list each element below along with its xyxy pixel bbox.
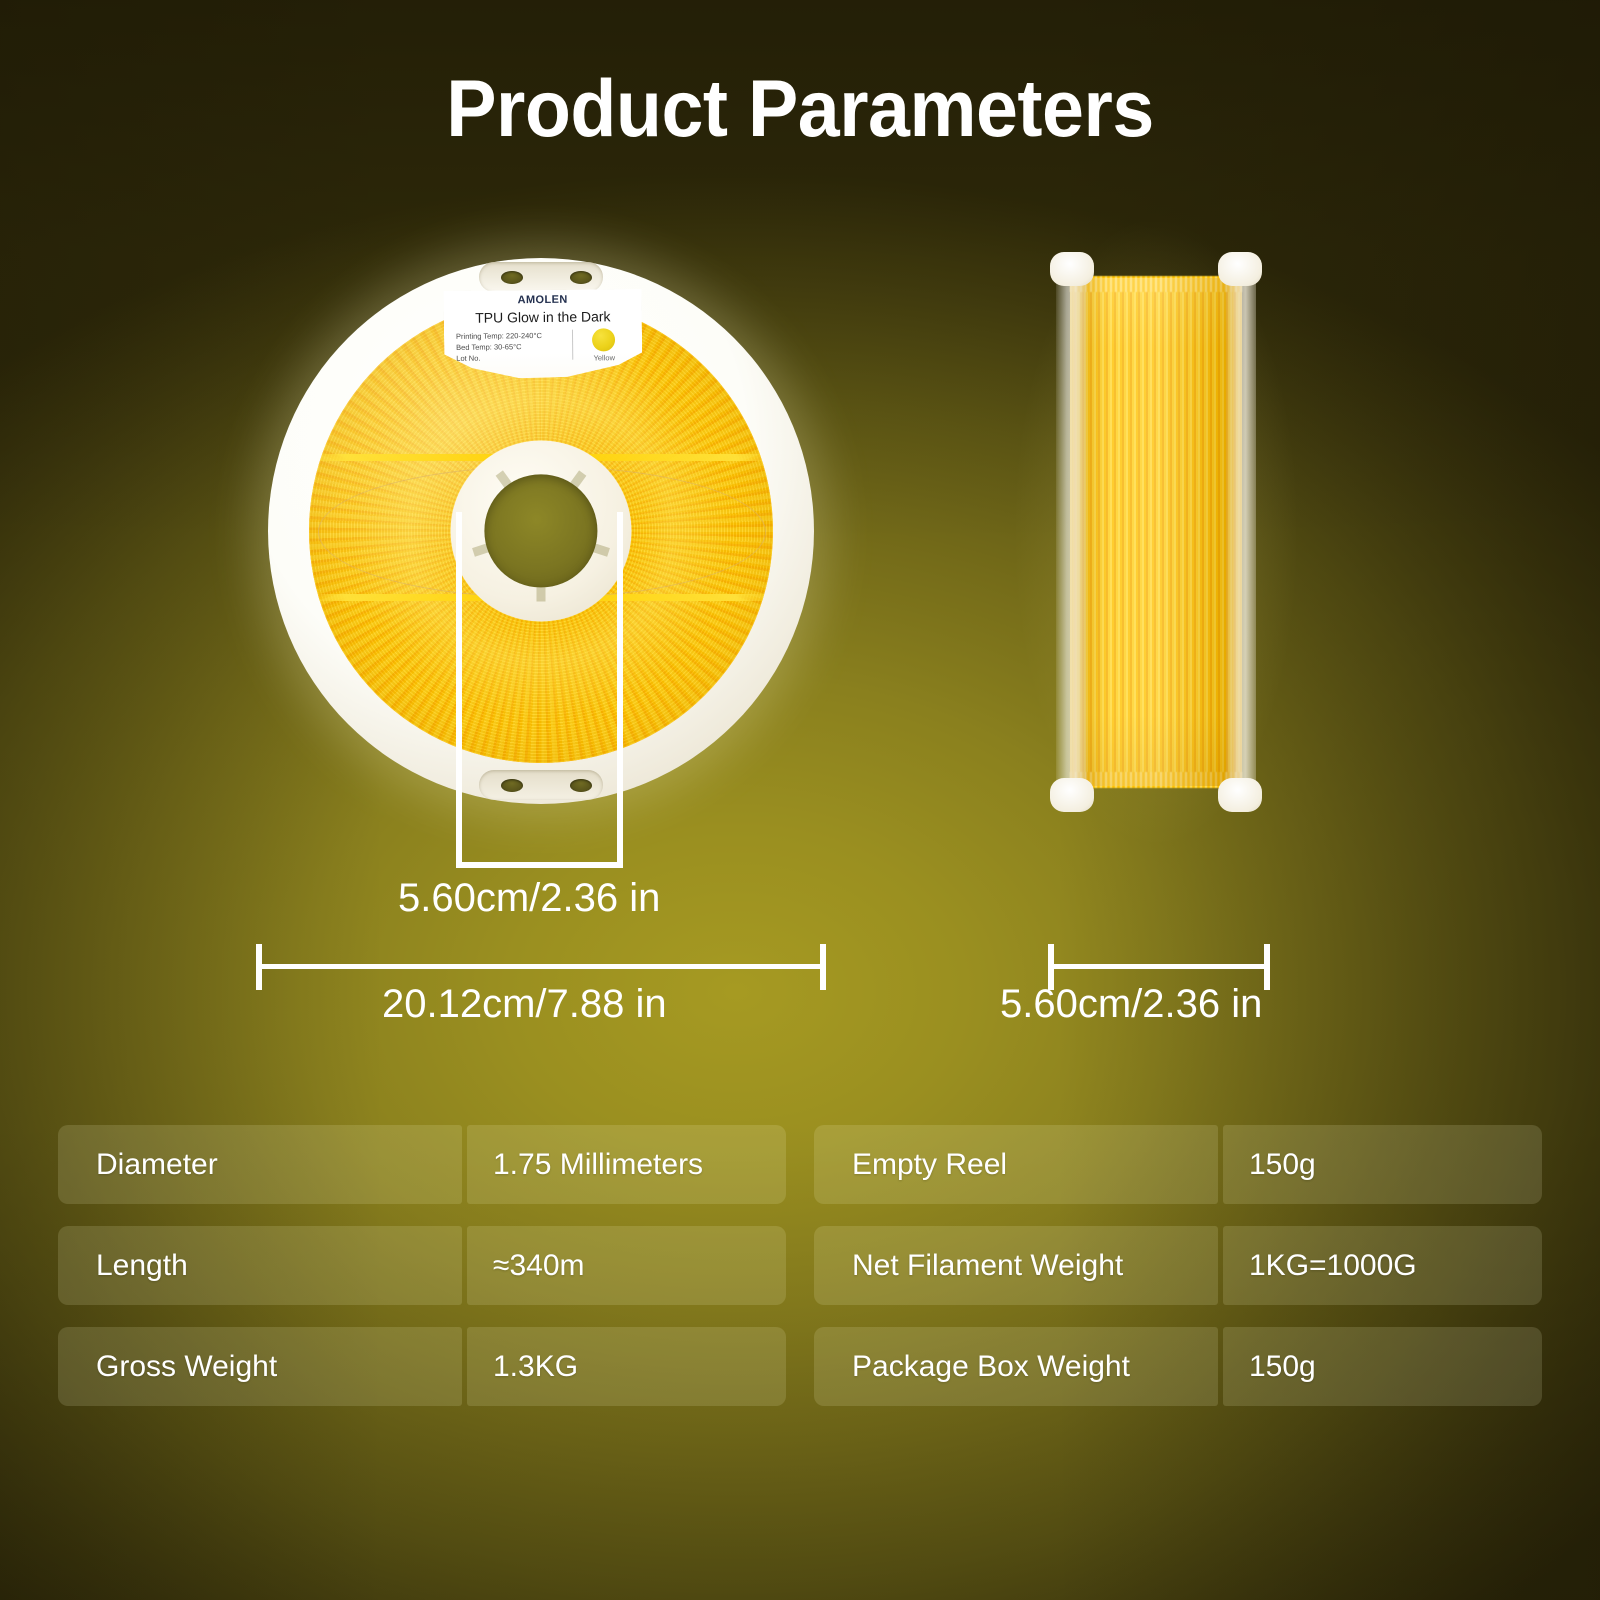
side-spool-image [1056,252,1256,812]
bed-temp-text: Bed Temp: 30-65°C [456,341,542,353]
spec-label-package-box-weight: Package Box Weight [814,1327,1218,1406]
product-name: TPU Glow in the Dark [444,308,642,326]
flange-hole [570,271,592,284]
spec-value-diameter: 1.75 Millimeters [467,1125,786,1204]
spec-pair-net-filament-weight: Net Filament Weight 1KG=1000G [814,1226,1542,1305]
flange-hole [570,779,592,792]
dimension-label-depth: 5.60cm/2.36 in [1000,982,1262,1027]
printing-temp-text: Printing Temp: 220-240°C [456,330,542,342]
spool-center-hole [485,475,597,587]
spec-label-length: Length [58,1226,462,1305]
spec-label-diameter: Diameter [58,1125,462,1204]
lot-no-text: Lot No. [456,352,542,364]
spec-row: Length ≈340m Net Filament Weight 1KG=100… [58,1226,1542,1305]
side-filament-strands [1070,278,1242,786]
label-spec-lines: Printing Temp: 220-240°C Bed Temp: 30-65… [456,330,542,364]
flange-hole [501,779,523,792]
color-name-text: Yellow [583,353,625,362]
spec-row: Diameter 1.75 Millimeters Empty Reel 150… [58,1125,1542,1204]
side-flange-cap-bottom-left [1050,778,1094,812]
side-flange-cap-top-right [1218,252,1262,286]
spec-pair-gross-weight: Gross Weight 1.3KG [58,1327,786,1406]
spec-label-gross-weight: Gross Weight [58,1327,462,1406]
diameter-dimension-line [256,964,826,969]
spec-value-net-filament-weight: 1KG=1000G [1223,1226,1542,1305]
hub-width-bracket-left [456,512,462,868]
hub-width-bracket-bottom [456,862,623,868]
spec-pair-package-box-weight: Package Box Weight 150g [814,1327,1542,1406]
brand-name: AMOLEN [444,293,642,307]
spec-value-gross-weight: 1.3KG [467,1327,786,1406]
spec-row: Gross Weight 1.3KG Package Box Weight 15… [58,1327,1542,1406]
side-flange-left [1056,252,1086,812]
front-spool-image: AMOLEN TPU Glow in the Dark Printing Tem… [268,258,814,804]
spec-label-empty-reel: Empty Reel [814,1125,1218,1204]
dimension-label-outer-diameter: 20.12cm/7.88 in [382,982,667,1027]
page-title: Product Parameters [56,63,1544,156]
depth-dimension-line [1048,964,1270,969]
spec-value-empty-reel: 150g [1223,1125,1542,1204]
label-divider [572,330,573,360]
side-filament-shading [1070,278,1242,786]
spec-pair-length: Length ≈340m [58,1226,786,1305]
spec-pair-diameter: Diameter 1.75 Millimeters [58,1125,786,1204]
side-flange-cap-top-left [1050,252,1094,286]
spool-product-label: AMOLEN TPU Glow in the Dark Printing Tem… [444,289,643,379]
hub-width-bracket-right [617,512,623,868]
spec-pair-empty-reel: Empty Reel 150g [814,1125,1542,1204]
side-flange-right [1226,252,1256,812]
color-swatch-icon [592,328,615,351]
spec-value-length: ≈340m [467,1226,786,1305]
flange-hole [501,271,523,284]
spec-label-net-filament-weight: Net Filament Weight [814,1226,1218,1305]
dimension-label-hub-width: 5.60cm/2.36 in [398,876,660,921]
product-parameters-infographic: Product Parameters [0,0,1600,1600]
specifications-table: Diameter 1.75 Millimeters Empty Reel 150… [58,1125,1542,1406]
spool-hub [450,440,631,621]
side-flange-cap-bottom-right [1218,778,1262,812]
spec-value-package-box-weight: 150g [1223,1327,1542,1406]
